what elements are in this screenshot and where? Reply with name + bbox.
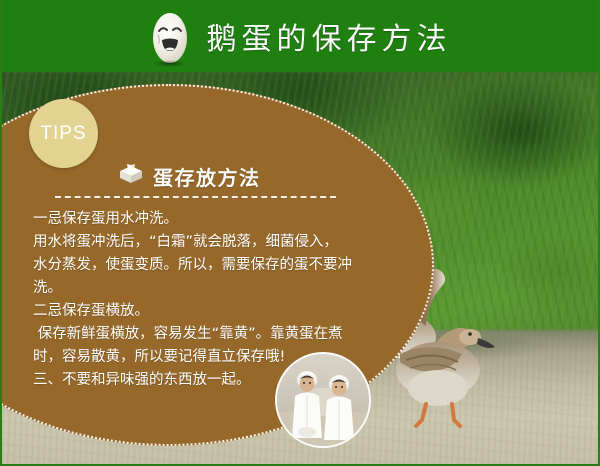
- poster-page: 鹅蛋的保存方法: [0, 0, 600, 466]
- header-content: 鹅蛋的保存方法: [0, 0, 600, 72]
- egg-mascot-icon: [149, 9, 191, 65]
- egg-shadow: [153, 60, 187, 67]
- page-title: 鹅蛋的保存方法: [207, 14, 452, 58]
- section-title: 蛋存放方法: [153, 162, 261, 191]
- section-heading: 蛋存放方法: [118, 162, 261, 191]
- open-box-icon: [118, 163, 144, 190]
- header-banner: 鹅蛋的保存方法: [0, 0, 600, 72]
- workers-inset-photo: [275, 352, 371, 448]
- dashed-divider: [55, 196, 336, 198]
